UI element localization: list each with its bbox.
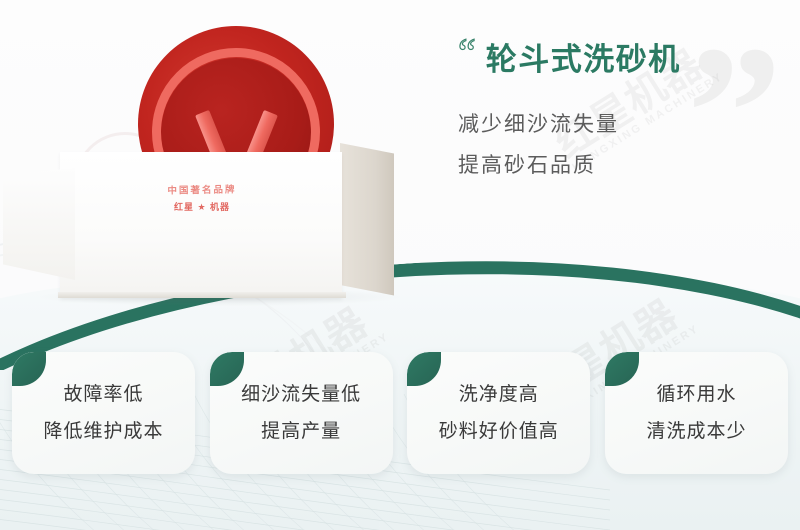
feature-card-line-2: 提高产量 [261, 413, 341, 450]
leaf-icon [407, 352, 441, 386]
brand-badge-name: 红星 ★ 机器 [156, 200, 248, 213]
subtitle-line-1: 减少细沙流失量 [458, 105, 788, 146]
feature-card-3[interactable]: 洗净度高 砂料好价值高 [407, 352, 590, 474]
feature-card-4[interactable]: 循环用水 清洗成本少 [605, 352, 788, 474]
feature-card-2[interactable]: 细沙流失量低 提高产量 [210, 352, 393, 474]
feature-card-line-2: 砂料好价值高 [439, 413, 559, 450]
product-image-sand-washer: 中国著名品牌 红星 ★ 机器 [0, 0, 470, 320]
feature-card-line-2: 降低维护成本 [43, 413, 163, 450]
subtitle-block: 减少细沙流失量 提高砂石品质 [458, 105, 788, 187]
machine-brand-badge: 中国著名品牌 红星 ★ 机器 [156, 182, 248, 226]
page-title: 轮斗式洗砂机 [486, 34, 681, 79]
promo-banner: ” 红星机器 HONGXING MACHINERY 红星机器 HONGXING … [0, 0, 800, 530]
subtitle-line-2: 提高砂石品质 [458, 146, 788, 187]
quote-open-icon: “ [458, 33, 476, 73]
tank-overflow-flap [3, 168, 75, 280]
headline-block: “ 轮斗式洗砂机 减少细沙流失量 提高砂石品质 [458, 34, 788, 187]
feature-card-line-1: 细沙流失量低 [241, 376, 361, 413]
tank-base-rail [58, 292, 346, 298]
tank-side-panel [340, 143, 394, 295]
feature-card-list: 故障率低 降低维护成本 细沙流失量低 提高产量 洗净度高 砂料好价值高 循环用水… [12, 352, 788, 474]
feature-card-1[interactable]: 故障率低 降低维护成本 [12, 352, 195, 474]
feature-card-line-2: 清洗成本少 [646, 413, 746, 450]
leaf-icon [605, 352, 639, 386]
feature-card-line-1: 故障率低 [63, 376, 143, 413]
feature-card-line-1: 循环用水 [656, 376, 736, 413]
leaf-icon [12, 352, 46, 386]
leaf-icon [210, 352, 244, 386]
title-row: “ 轮斗式洗砂机 [458, 34, 788, 79]
feature-card-line-1: 洗净度高 [459, 376, 539, 413]
brand-badge-arc-text: 中国著名品牌 [156, 181, 248, 197]
